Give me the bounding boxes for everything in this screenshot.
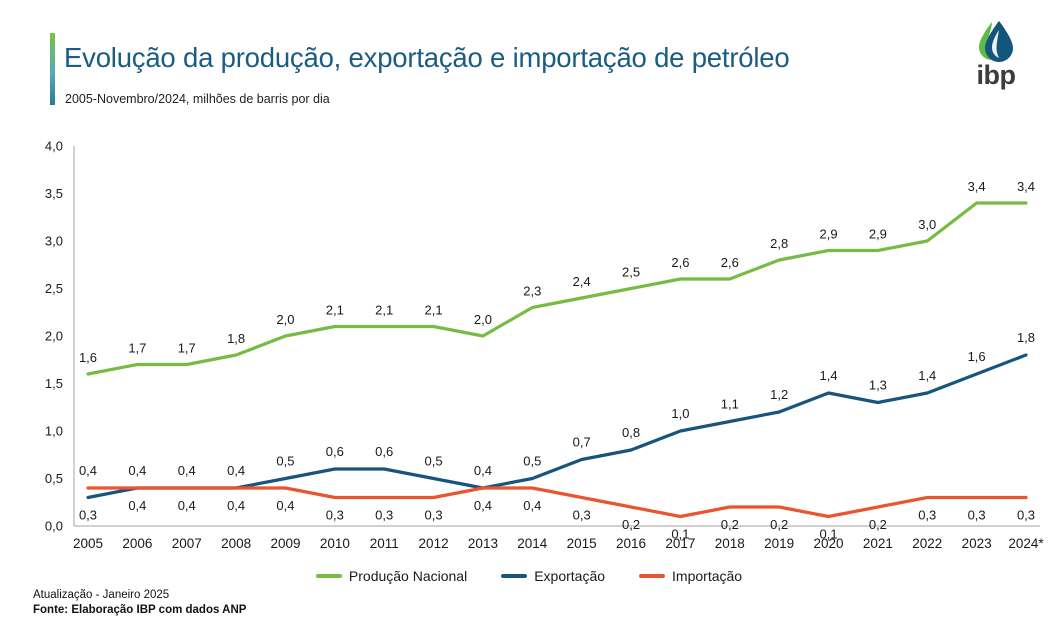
data-label-producao: 2,8 <box>770 236 788 251</box>
data-label-exportacao: 0,6 <box>375 444 393 459</box>
data-label-producao: 2,3 <box>523 284 541 299</box>
y-tick-label: 2,5 <box>45 281 63 296</box>
data-label-exportacao: 1,8 <box>1017 330 1035 345</box>
x-tick-label: 2013 <box>468 536 498 551</box>
data-label-producao: 2,1 <box>326 303 344 318</box>
page-title: Evolução da produção, exportação e impor… <box>64 42 789 74</box>
data-label-importacao: 0,3 <box>968 508 986 523</box>
data-label-producao: 1,7 <box>178 341 196 356</box>
data-label-importacao: 0,4 <box>79 463 97 478</box>
x-tick-label: 2023 <box>962 536 992 551</box>
data-label-importacao: 0,3 <box>326 508 344 523</box>
y-axis-tick-labels: 0,00,51,01,52,02,53,03,54,0 <box>45 139 63 534</box>
x-tick-label: 2015 <box>567 536 597 551</box>
legend-swatch <box>639 574 665 578</box>
data-label-importacao: 0,2 <box>622 517 640 532</box>
data-label-importacao: 0,3 <box>573 508 591 523</box>
data-label-exportacao: 0,6 <box>326 444 344 459</box>
ibp-logo: ibp <box>956 18 1036 94</box>
data-label-producao: 2,9 <box>819 227 837 242</box>
data-label-importacao: 0,1 <box>671 527 689 542</box>
data-label-exportacao: 1,4 <box>918 368 936 383</box>
chart-canvas: 0,00,51,01,52,02,53,03,54,0 200520062007… <box>0 130 1058 560</box>
data-label-producao: 2,1 <box>425 303 443 318</box>
data-label-exportacao: 1,3 <box>869 378 887 393</box>
x-tick-label: 2014 <box>517 536 548 551</box>
data-label-producao: 1,6 <box>79 350 97 365</box>
y-tick-label: 4,0 <box>45 139 63 154</box>
data-label-importacao: 0,4 <box>178 463 196 478</box>
legend-item-produção-nacional[interactable]: Produção Nacional <box>316 568 467 584</box>
data-label-exportacao: 0,5 <box>276 454 294 469</box>
data-label-importacao: 0,2 <box>721 517 739 532</box>
data-label-producao: 2,1 <box>375 303 393 318</box>
data-label-importacao: 0,4 <box>276 498 294 513</box>
x-tick-label: 2011 <box>370 536 399 551</box>
x-tick-label: 2010 <box>320 536 350 551</box>
legend-label: Produção Nacional <box>349 568 467 584</box>
y-tick-label: 1,5 <box>45 376 63 391</box>
data-label-importacao: 0,4 <box>227 463 245 478</box>
data-label-exportacao: 1,0 <box>671 406 689 421</box>
y-tick-label: 0,0 <box>45 519 63 534</box>
x-tick-label: 2016 <box>616 536 646 551</box>
data-label-producao: 2,0 <box>474 312 492 327</box>
ibp-wordmark: ibp <box>956 62 1036 89</box>
data-label-producao: 3,4 <box>968 179 986 194</box>
data-label-producao: 1,8 <box>227 331 245 346</box>
data-label-producao: 1,7 <box>128 341 146 356</box>
data-label-exportacao: 0,4 <box>178 498 196 513</box>
title-accent-bar <box>50 33 55 105</box>
data-label-producao: 2,5 <box>622 265 640 280</box>
x-tick-label: 2012 <box>419 536 449 551</box>
chart-legend: Produção NacionalExportaçãoImportação <box>0 568 1058 584</box>
legend-swatch <box>501 574 527 578</box>
data-label-exportacao: 0,7 <box>573 435 591 450</box>
data-label-importacao: 0,3 <box>918 508 936 523</box>
x-tick-label: 2022 <box>912 536 942 551</box>
legend-swatch <box>316 574 342 578</box>
data-label-exportacao: 1,1 <box>721 397 739 412</box>
data-label-importacao: 0,4 <box>523 498 541 513</box>
data-label-producao: 2,6 <box>721 255 739 270</box>
data-label-producao: 2,0 <box>276 312 294 327</box>
x-tick-label: 2009 <box>270 536 300 551</box>
data-label-importacao: 0,3 <box>1017 508 1035 523</box>
x-tick-label: 2007 <box>172 536 202 551</box>
data-label-producao: 2,6 <box>671 255 689 270</box>
data-label-producao: 3,4 <box>1017 179 1035 194</box>
data-label-exportacao: 1,4 <box>819 368 837 383</box>
y-tick-label: 0,5 <box>45 471 63 486</box>
data-label-exportacao: 0,4 <box>128 498 146 513</box>
legend-label: Importação <box>672 568 742 584</box>
legend-item-exportação[interactable]: Exportação <box>501 568 605 584</box>
data-label-importacao: 0,4 <box>128 463 146 478</box>
data-label-importacao: 0,2 <box>869 517 887 532</box>
footer-source: Fonte: Elaboração IBP com dados ANP <box>33 603 246 618</box>
data-label-importacao: 0,3 <box>375 508 393 523</box>
data-label-exportacao: 1,2 <box>770 387 788 402</box>
x-tick-label: 2008 <box>221 536 251 551</box>
data-label-exportacao: 0,5 <box>523 454 541 469</box>
data-label-exportacao: 0,4 <box>474 463 492 478</box>
droplet-icon <box>972 18 1020 66</box>
data-label-exportacao: 0,4 <box>227 498 245 513</box>
data-label-importacao: 0,1 <box>819 527 837 542</box>
data-label-exportacao: 1,6 <box>968 349 986 364</box>
y-tick-label: 2,0 <box>45 329 63 344</box>
footer-update: Atualização - Janeiro 2025 <box>33 588 246 603</box>
x-tick-label: 2005 <box>73 536 103 551</box>
x-tick-label: 2024* <box>1008 536 1044 551</box>
data-label-exportacao: 0,8 <box>622 425 640 440</box>
data-label-importacao: 0,3 <box>425 508 443 523</box>
chart-footer: Atualização - Janeiro 2025 Fonte: Elabor… <box>33 588 246 618</box>
data-label-exportacao: 0,5 <box>425 454 443 469</box>
data-label-producao: 2,9 <box>869 227 887 242</box>
chart-header: Evolução da produção, exportação e impor… <box>0 0 1058 130</box>
x-tick-label: 2018 <box>715 536 745 551</box>
x-tick-label: 2019 <box>764 536 794 551</box>
y-tick-label: 1,0 <box>45 424 63 439</box>
page-subtitle: 2005-Novembro/2024, milhões de barris po… <box>65 92 330 106</box>
line-chart: 0,00,51,01,52,02,53,03,54,0 200520062007… <box>0 130 1058 560</box>
legend-label: Exportação <box>534 568 605 584</box>
data-label-producao: 3,0 <box>918 217 936 232</box>
y-tick-label: 3,0 <box>45 234 63 249</box>
x-axis-tick-labels: 2005200620072008200920102011201220132014… <box>73 536 1044 551</box>
data-label-importacao: 0,2 <box>770 517 788 532</box>
legend-item-importação[interactable]: Importação <box>639 568 742 584</box>
data-label-importacao: 0,4 <box>474 498 492 513</box>
x-tick-label: 2021 <box>863 536 893 551</box>
y-tick-label: 3,5 <box>45 186 63 201</box>
x-tick-label: 2006 <box>122 536 152 551</box>
data-label-exportacao: 0,3 <box>79 508 97 523</box>
data-label-producao: 2,4 <box>573 274 591 289</box>
